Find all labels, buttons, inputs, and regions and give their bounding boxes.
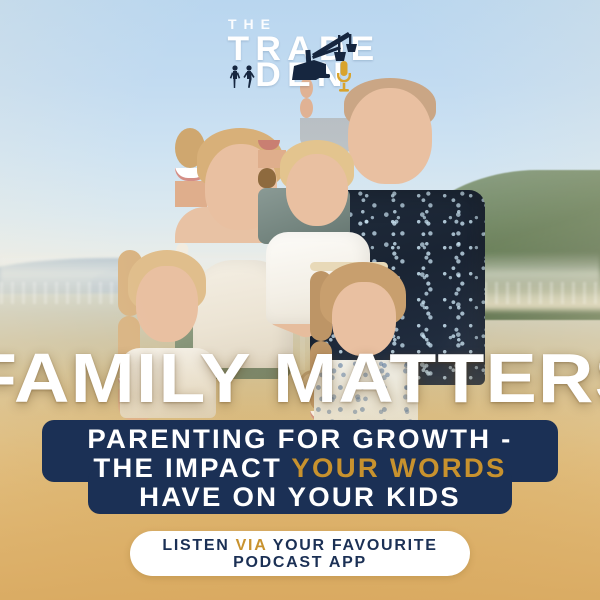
- subtitle-band: PARENTING FOR GROWTH - THE IMPACT YOUR W…: [0, 420, 600, 520]
- mother-neck: [175, 181, 207, 207]
- microphone-icon: [333, 60, 355, 94]
- girl-left-head: [136, 266, 198, 342]
- cta-favourite-label: YOUR FAVOURITE: [267, 537, 438, 554]
- subtitle-text: PARENTING FOR GROWTH - THE IMPACT YOUR W…: [0, 425, 600, 512]
- cta-line-1: LISTEN VIA YOUR FAVOURITE: [162, 537, 437, 554]
- listen-cta-button[interactable]: LISTEN VIA YOUR FAVOURITE PODCAST APP: [130, 531, 470, 576]
- subtitle-line-1: PARENTING FOR GROWTH -: [0, 425, 600, 454]
- podcast-cover-artwork: THE TRADE DEN: [0, 0, 600, 600]
- brand-logo[interactable]: THE TRADE DEN: [0, 14, 600, 94]
- subtitle-line-2-plain: THE IMPACT: [93, 453, 291, 483]
- father-ear-right: [300, 98, 313, 118]
- crane-icon: [282, 30, 368, 82]
- cta-line-2: PODCAST APP: [162, 554, 437, 571]
- toddler-mouth: [258, 140, 280, 150]
- workers-icon: [228, 64, 262, 90]
- cta-listen-label: LISTEN: [162, 537, 235, 554]
- subtitle-line-3: HAVE ON YOUR KIDS: [0, 483, 600, 512]
- toddler-shirt-badge: [258, 168, 276, 188]
- cta-via-highlight: VIA: [236, 537, 267, 554]
- toddler-head: [286, 154, 348, 226]
- cta-text: LISTEN VIA YOUR FAVOURITE PODCAST APP: [162, 537, 437, 571]
- subtitle-line-2-highlight: YOUR WORDS: [291, 453, 506, 483]
- subtitle-line-2: THE IMPACT YOUR WORDS: [0, 454, 600, 483]
- episode-title: FAMILY MATTERS:: [0, 347, 600, 409]
